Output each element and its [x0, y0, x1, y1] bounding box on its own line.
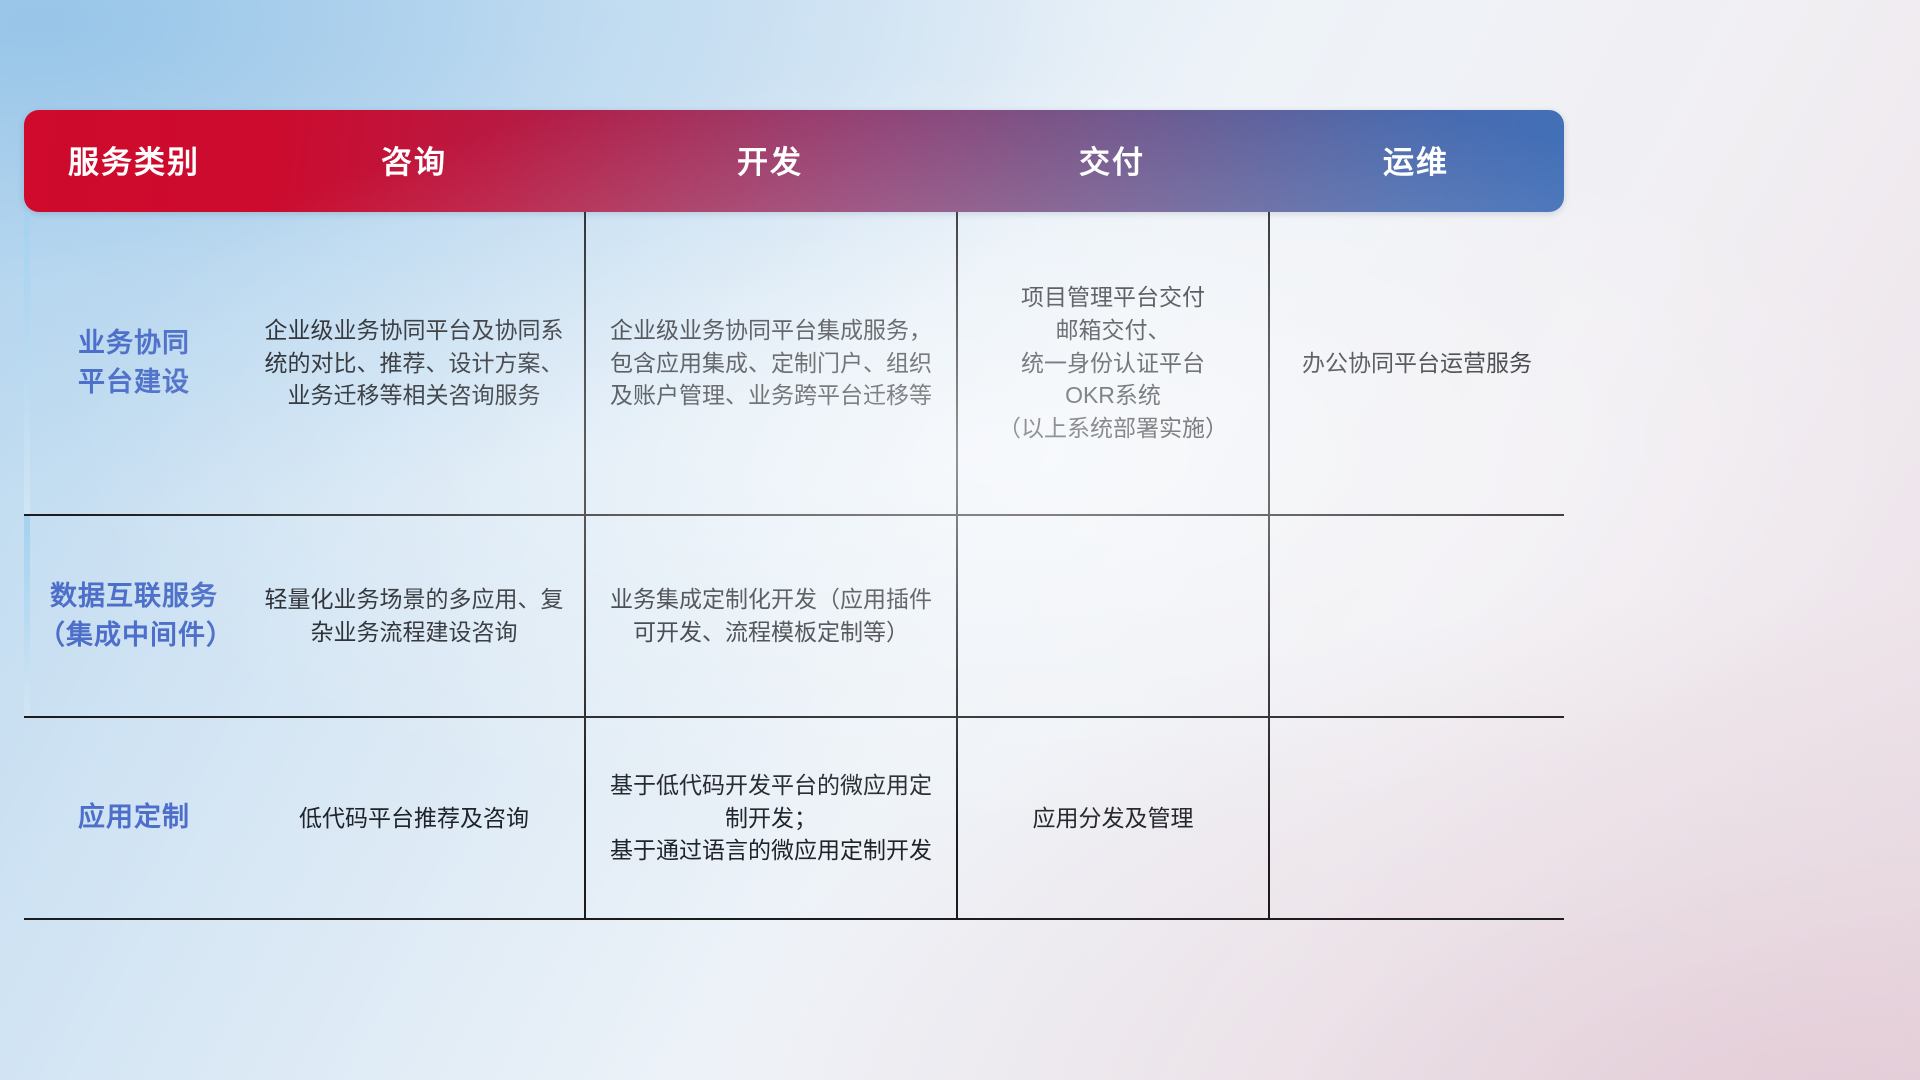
table-row: 应用定制 低代码平台推荐及咨询 基于低代码开发平台的微应用定 制开发； 基于通过… — [24, 718, 1564, 920]
cell-row3-development: 基于低代码开发平台的微应用定 制开发； 基于通过语言的微应用定制开发 — [584, 718, 956, 918]
row-label-application-customization: 应用定制 — [24, 718, 244, 918]
cell-row2-consulting: 轻量化业务场景的多应用、复 杂业务流程建设咨询 — [244, 516, 584, 716]
cell-row2-delivery — [956, 516, 1268, 716]
row-accent-stripe — [24, 516, 30, 716]
service-matrix-table: 服务类别 咨询 开发 交付 运维 业务协同 平台建设 企业级业务协同平台及协同系… — [24, 110, 1564, 920]
table-row: 数据互联服务 （集成中间件） 轻量化业务场景的多应用、复 杂业务流程建设咨询 业… — [24, 516, 1564, 718]
table-body: 业务协同 平台建设 企业级业务协同平台及协同系 统的对比、推荐、设计方案、 业务… — [24, 212, 1564, 920]
column-header-development: 开发 — [584, 145, 956, 178]
cell-row1-development: 企业级业务协同平台集成服务， 包含应用集成、定制门户、组织 及账户管理、业务跨平… — [584, 212, 956, 514]
row-label-business-collaboration: 业务协同 平台建设 — [24, 212, 244, 514]
column-header-service-category: 服务类别 — [24, 145, 244, 178]
column-header-operations: 运维 — [1268, 145, 1564, 178]
cell-row1-consulting: 企业级业务协同平台及协同系 统的对比、推荐、设计方案、 业务迁移等相关咨询服务 — [244, 212, 584, 514]
cell-row3-delivery: 应用分发及管理 — [956, 718, 1268, 918]
cell-row2-operations — [1268, 516, 1564, 716]
cell-row3-consulting: 低代码平台推荐及咨询 — [244, 718, 584, 918]
cell-row2-development: 业务集成定制化开发（应用插件 可开发、流程模板定制等） — [584, 516, 956, 716]
page-root: 服务类别 咨询 开发 交付 运维 业务协同 平台建设 企业级业务协同平台及协同系… — [0, 0, 1920, 1080]
row-accent-stripe — [24, 212, 30, 514]
row-label-data-interconnect: 数据互联服务 （集成中间件） — [24, 516, 244, 716]
cell-row1-operations: 办公协同平台运营服务 — [1268, 212, 1564, 514]
cell-row3-operations — [1268, 718, 1564, 918]
cell-row1-delivery: 项目管理平台交付 邮箱交付、 统一身份认证平台 OKR系统 （以上系统部署实施） — [956, 212, 1268, 514]
column-header-consulting: 咨询 — [244, 145, 584, 178]
table-header-row: 服务类别 咨询 开发 交付 运维 — [24, 110, 1564, 212]
table-row: 业务协同 平台建设 企业级业务协同平台及协同系 统的对比、推荐、设计方案、 业务… — [24, 212, 1564, 516]
column-header-delivery: 交付 — [956, 145, 1268, 178]
